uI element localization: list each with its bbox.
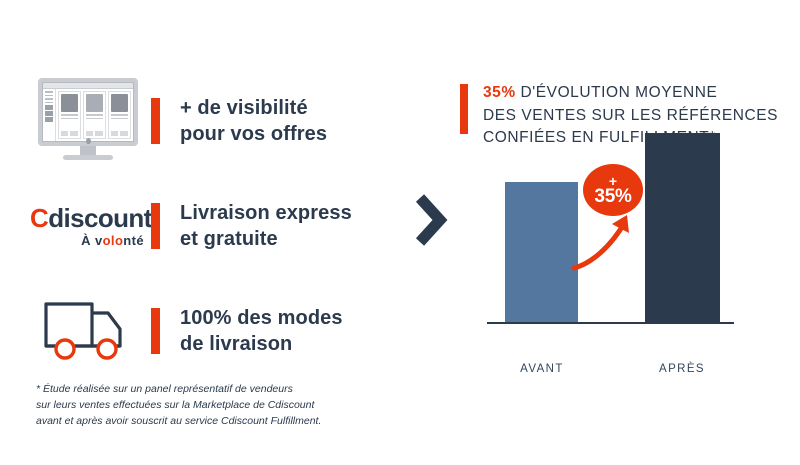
growth-badge: + 35% [583, 164, 643, 216]
cdiscount-wordmark: Cdiscount [30, 205, 145, 231]
accent-bar-delivery [151, 203, 160, 249]
feature-item-visibility: + de visibilité pour vos offres [30, 76, 327, 166]
feature-label-modes: 100% des modes de livraison [180, 305, 343, 358]
feature-item-modes: 100% des modes de livraison [30, 286, 343, 376]
headline-text: 35% D'ÉVOLUTION MOYENNE DES VENTES SUR L… [483, 82, 778, 150]
cdiscount-tagline: À volonté [30, 234, 145, 247]
headline-line1-rest: D'ÉVOLUTION MOYENNE [516, 84, 718, 101]
cdiscount-logo: Cdiscount À volonté [30, 181, 145, 271]
truck-glyph [40, 298, 136, 364]
headline-line-2: DES VENTES SUR LES RÉFÉRENCES [483, 105, 778, 128]
footnote-text: * Étude réalisée sur un panel représenta… [36, 382, 366, 430]
chevron-right-icon [408, 190, 452, 250]
infographic-canvas: + de visibilité pour vos offres Cdiscoun… [0, 0, 800, 465]
badge-value: 35% [594, 187, 631, 206]
delivery-truck-icon [30, 286, 145, 376]
chart-label-avant: AVANT [492, 363, 592, 375]
chart-label-apres: APRÈS [632, 363, 732, 375]
feature-label-delivery: Livraison express et gratuite [180, 200, 352, 253]
cdiscount-initial: C [30, 203, 48, 233]
headline-line-1: 35% D'ÉVOLUTION MOYENNE [483, 82, 778, 105]
monitor-icon [30, 76, 145, 166]
headline-block: 35% D'ÉVOLUTION MOYENNE DES VENTES SUR L… [460, 82, 778, 150]
feature-item-delivery: Cdiscount À volonté Livraison express et… [30, 181, 352, 271]
headline-line-3: CONFIÉES EN FULFILLMENT* [483, 127, 778, 150]
bar-apres [645, 133, 720, 323]
accent-bar-modes [151, 308, 160, 354]
headline-percent: 35% [483, 84, 516, 101]
feature-label-visibility: + de visibilité pour vos offres [180, 95, 327, 148]
chart-x-axis [487, 322, 734, 324]
accent-bar-visibility [151, 98, 160, 144]
cdiscount-name: discount [48, 203, 152, 233]
accent-bar-headline [460, 84, 468, 134]
chart-plot-area: + 35% [470, 160, 750, 360]
sales-growth-bar-chart: + 35% AVANT APRÈS [470, 160, 750, 385]
